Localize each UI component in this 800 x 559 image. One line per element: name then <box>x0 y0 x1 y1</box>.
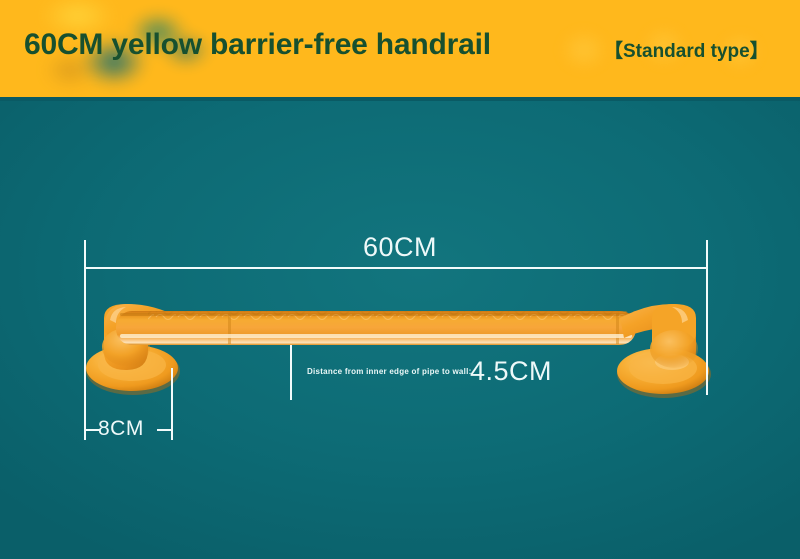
dimension-annotations: 60CM 8CM Distance from inner edge of pip… <box>0 0 800 559</box>
dim-45-note: Distance from inner edge of pipe to wall… <box>307 367 472 376</box>
dim-8-label: 8CM <box>98 417 144 441</box>
dim-60-right-extension <box>706 240 708 395</box>
dim-60-span-line <box>84 267 708 269</box>
dim-45-leader-line <box>290 345 292 400</box>
dim-60-left-extension <box>84 240 86 440</box>
dim-45-label: 4.5CM <box>470 356 552 387</box>
dim-8-span-line-right <box>157 429 173 431</box>
dim-60-label: 60CM <box>0 232 800 263</box>
product-infographic: 60CM yellow barrier-free handrail 【Stand… <box>0 0 800 559</box>
